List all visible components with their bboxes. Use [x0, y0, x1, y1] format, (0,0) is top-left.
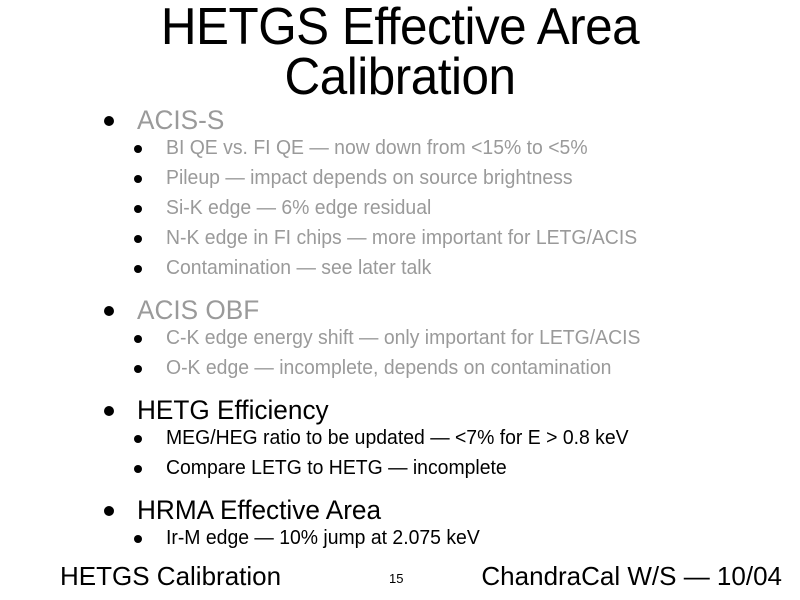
- bullet-dot-icon: [104, 506, 114, 516]
- section-heading-acis-s: ACIS-S: [0, 105, 800, 137]
- bullet-dot-icon: [134, 535, 142, 543]
- bullet-dot-icon: [134, 145, 142, 153]
- section-heading-hetg-efficiency: HETG Efficiency: [0, 395, 800, 427]
- bullet-dot-icon: [134, 435, 142, 443]
- slide-title: HETGS Effective Area Calibration: [20, 2, 780, 102]
- section-group: ACIS-S BI QE vs. FI QE — now down from <…: [0, 105, 800, 287]
- footer-title: HETGS Calibration: [60, 560, 281, 592]
- section-heading-hrma-effective-area: HRMA Effective Area: [0, 495, 800, 527]
- slide-footer: HETGS Calibration 15 ChandraCal W/S — 10…: [0, 560, 800, 594]
- section-heading-acis-obf: ACIS OBF: [0, 295, 800, 327]
- section-group: HRMA Effective Area Ir-M edge — 10% jump…: [0, 495, 800, 557]
- slide-body: ACIS-S BI QE vs. FI QE — now down from <…: [0, 105, 800, 557]
- list-item: Compare LETG to HETG — incomplete: [0, 457, 800, 487]
- bullet-dot-icon: [104, 116, 114, 126]
- bullet-dot-icon: [134, 235, 142, 243]
- footer-event: ChandraCal W/S — 10/04: [481, 560, 782, 592]
- bullet-dot-icon: [134, 265, 142, 273]
- list-item: C-K edge energy shift — only important f…: [0, 327, 800, 357]
- list-item: Ir-M edge — 10% jump at 2.075 keV: [0, 527, 800, 557]
- list-item: O-K edge — incomplete, depends on contam…: [0, 357, 800, 387]
- bullet-dot-icon: [134, 365, 142, 373]
- bullet-dot-icon: [134, 175, 142, 183]
- bullet-dot-icon: [134, 335, 142, 343]
- section-group: ACIS OBF C-K edge energy shift — only im…: [0, 295, 800, 387]
- list-item: Contamination — see later talk: [0, 257, 800, 287]
- list-item: Si-K edge — 6% edge residual: [0, 197, 800, 227]
- list-item: N-K edge in FI chips — more important fo…: [0, 227, 800, 257]
- list-item: BI QE vs. FI QE — now down from <15% to …: [0, 137, 800, 167]
- section-group: HETG Efficiency MEG/HEG ratio to be upda…: [0, 395, 800, 487]
- bullet-dot-icon: [134, 465, 142, 473]
- bullet-dot-icon: [134, 205, 142, 213]
- list-item: Pileup — impact depends on source bright…: [0, 167, 800, 197]
- slide-page-number: 15: [389, 570, 403, 588]
- list-item: MEG/HEG ratio to be updated — <7% for E …: [0, 427, 800, 457]
- bullet-dot-icon: [104, 306, 114, 316]
- bullet-dot-icon: [104, 406, 114, 416]
- presentation-slide: HETGS Effective Area Calibration ACIS-S …: [0, 0, 800, 600]
